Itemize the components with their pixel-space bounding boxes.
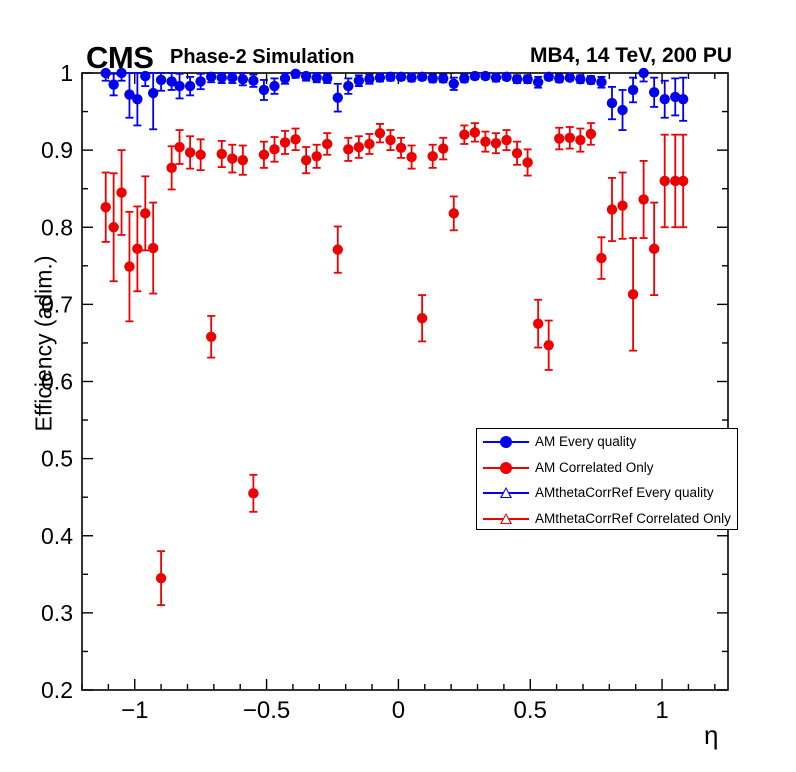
legend-item: AMthetaCorrRef Every quality [477, 480, 737, 506]
data-point [480, 136, 490, 146]
data-point [649, 87, 659, 97]
data-point [512, 148, 522, 158]
data-point [533, 77, 543, 87]
data-point [124, 261, 134, 271]
data-point [449, 79, 459, 89]
data-point [544, 340, 554, 350]
y-tick-label: 0.4 [41, 523, 73, 549]
data-point [417, 72, 427, 82]
data-point [354, 142, 364, 152]
data-point [565, 72, 575, 82]
data-point [227, 153, 237, 163]
y-tick-label: 0.8 [41, 214, 73, 240]
data-point [596, 253, 606, 263]
data-point [290, 134, 300, 144]
y-tick-label: 0.5 [41, 446, 73, 472]
data-point [501, 72, 511, 82]
data-point [491, 72, 501, 82]
data-point [301, 155, 311, 165]
data-point [140, 71, 150, 81]
plot-frame [82, 73, 728, 690]
data-point [101, 202, 111, 212]
data-point [522, 74, 532, 84]
data-point [140, 208, 150, 218]
data-point [554, 73, 564, 83]
data-point [628, 289, 638, 299]
data-point [678, 176, 688, 186]
data-point [617, 105, 627, 115]
data-point [238, 155, 248, 165]
data-point [248, 76, 258, 86]
data-point [101, 68, 111, 78]
data-point [470, 127, 480, 137]
data-point [148, 88, 158, 98]
data-point [206, 72, 216, 82]
data-point [438, 73, 448, 83]
data-point [544, 72, 554, 82]
data-point [459, 130, 469, 140]
series-am-correlated-only [101, 123, 689, 605]
data-point [290, 69, 300, 79]
data-point [343, 81, 353, 91]
data-point [596, 77, 606, 87]
data-point [480, 71, 490, 81]
data-point [156, 573, 166, 583]
data-point [660, 94, 670, 104]
data-point [459, 73, 469, 83]
data-point [132, 244, 142, 254]
plot-canvas: 0.20.30.40.50.60.70.80.91−1−0.500.51 [0, 0, 796, 772]
data-point [607, 204, 617, 214]
data-point [343, 144, 353, 154]
data-point [280, 137, 290, 147]
data-point [638, 68, 648, 78]
data-point [322, 73, 332, 83]
data-point [108, 222, 118, 232]
y-tick-label: 0.3 [41, 600, 73, 626]
data-point [185, 147, 195, 157]
series-am-every-quality [101, 68, 689, 130]
data-point [375, 128, 385, 138]
data-point [185, 81, 195, 91]
legend-label: AMthetaCorrRef Every quality [535, 485, 714, 500]
data-point [607, 98, 617, 108]
data-point [259, 85, 269, 95]
data-point [385, 135, 395, 145]
legend-marker-am-every-quality [477, 429, 535, 454]
data-point [396, 143, 406, 153]
legend-item: AMthetaCorrRef Correlated Only [477, 506, 737, 532]
data-point [586, 75, 596, 85]
data-point [375, 72, 385, 82]
data-point [195, 150, 205, 160]
data-point [406, 72, 416, 82]
data-point [195, 76, 205, 86]
data-point [427, 151, 437, 161]
legend-item: AM Every quality [477, 429, 737, 455]
data-point [269, 144, 279, 154]
legend-label: AM Correlated Only [535, 460, 654, 475]
data-point [116, 187, 126, 197]
data-point [575, 135, 585, 145]
x-tick-label: 0 [392, 697, 405, 724]
data-point [449, 208, 459, 218]
data-point [174, 81, 184, 91]
data-point [470, 71, 480, 81]
data-point [533, 318, 543, 328]
data-point [206, 332, 216, 342]
data-point [311, 72, 321, 82]
data-point [427, 73, 437, 83]
data-point [322, 139, 332, 149]
data-point [385, 72, 395, 82]
data-point [311, 151, 321, 161]
data-point [628, 85, 638, 95]
data-point [333, 244, 343, 254]
data-point [512, 74, 522, 84]
data-point [364, 74, 374, 84]
data-point [406, 152, 416, 162]
data-point [491, 138, 501, 148]
x-tick-label: −1 [121, 697, 148, 724]
data-point [678, 94, 688, 104]
data-point [116, 68, 126, 78]
data-point [132, 94, 142, 104]
data-point [333, 92, 343, 102]
legend-label: AM Every quality [535, 434, 636, 449]
data-point [259, 150, 269, 160]
data-point [396, 72, 406, 82]
x-tick-label: −0.5 [243, 697, 290, 724]
y-tick-label: 0.2 [41, 677, 73, 703]
data-point [501, 135, 511, 145]
y-tick-label: 1 [60, 60, 73, 86]
data-point [364, 139, 374, 149]
data-point [575, 74, 585, 84]
data-point [586, 129, 596, 139]
data-point [148, 243, 158, 253]
data-point [354, 76, 364, 86]
legend-marker-amthetacorrref-every-quality [477, 480, 535, 505]
data-point [301, 71, 311, 81]
data-point [166, 163, 176, 173]
data-point [174, 142, 184, 152]
y-tick-label: 0.6 [41, 369, 73, 395]
data-point [108, 79, 118, 89]
data-point [660, 176, 670, 186]
data-point [649, 244, 659, 254]
legend-marker-am-correlated-only [477, 455, 535, 480]
y-tick-label: 0.7 [41, 291, 73, 317]
data-point [156, 75, 166, 85]
data-point [269, 81, 279, 91]
data-point [217, 149, 227, 159]
data-point [238, 74, 248, 84]
data-point [554, 133, 564, 143]
data-point [617, 200, 627, 210]
legend: AM Every quality AM Correlated Only AMth… [476, 428, 738, 530]
plot-root: CMS Phase-2 Simulation MB4, 14 TeV, 200 … [0, 0, 796, 772]
legend-label: AMthetaCorrRef Correlated Only [535, 511, 731, 526]
data-point [417, 313, 427, 323]
data-point [248, 488, 258, 498]
x-tick-label: 1 [655, 697, 668, 724]
data-point [638, 194, 648, 204]
x-tick-label: 0.5 [514, 697, 547, 724]
y-tick-label: 0.9 [41, 137, 73, 163]
legend-marker-amthetacorrref-correlated-only [477, 506, 535, 531]
data-point [217, 72, 227, 82]
data-point [438, 143, 448, 153]
legend-item: AM Correlated Only [477, 455, 737, 481]
data-point [280, 73, 290, 83]
data-point [522, 157, 532, 167]
data-point [565, 133, 575, 143]
data-point [227, 72, 237, 82]
